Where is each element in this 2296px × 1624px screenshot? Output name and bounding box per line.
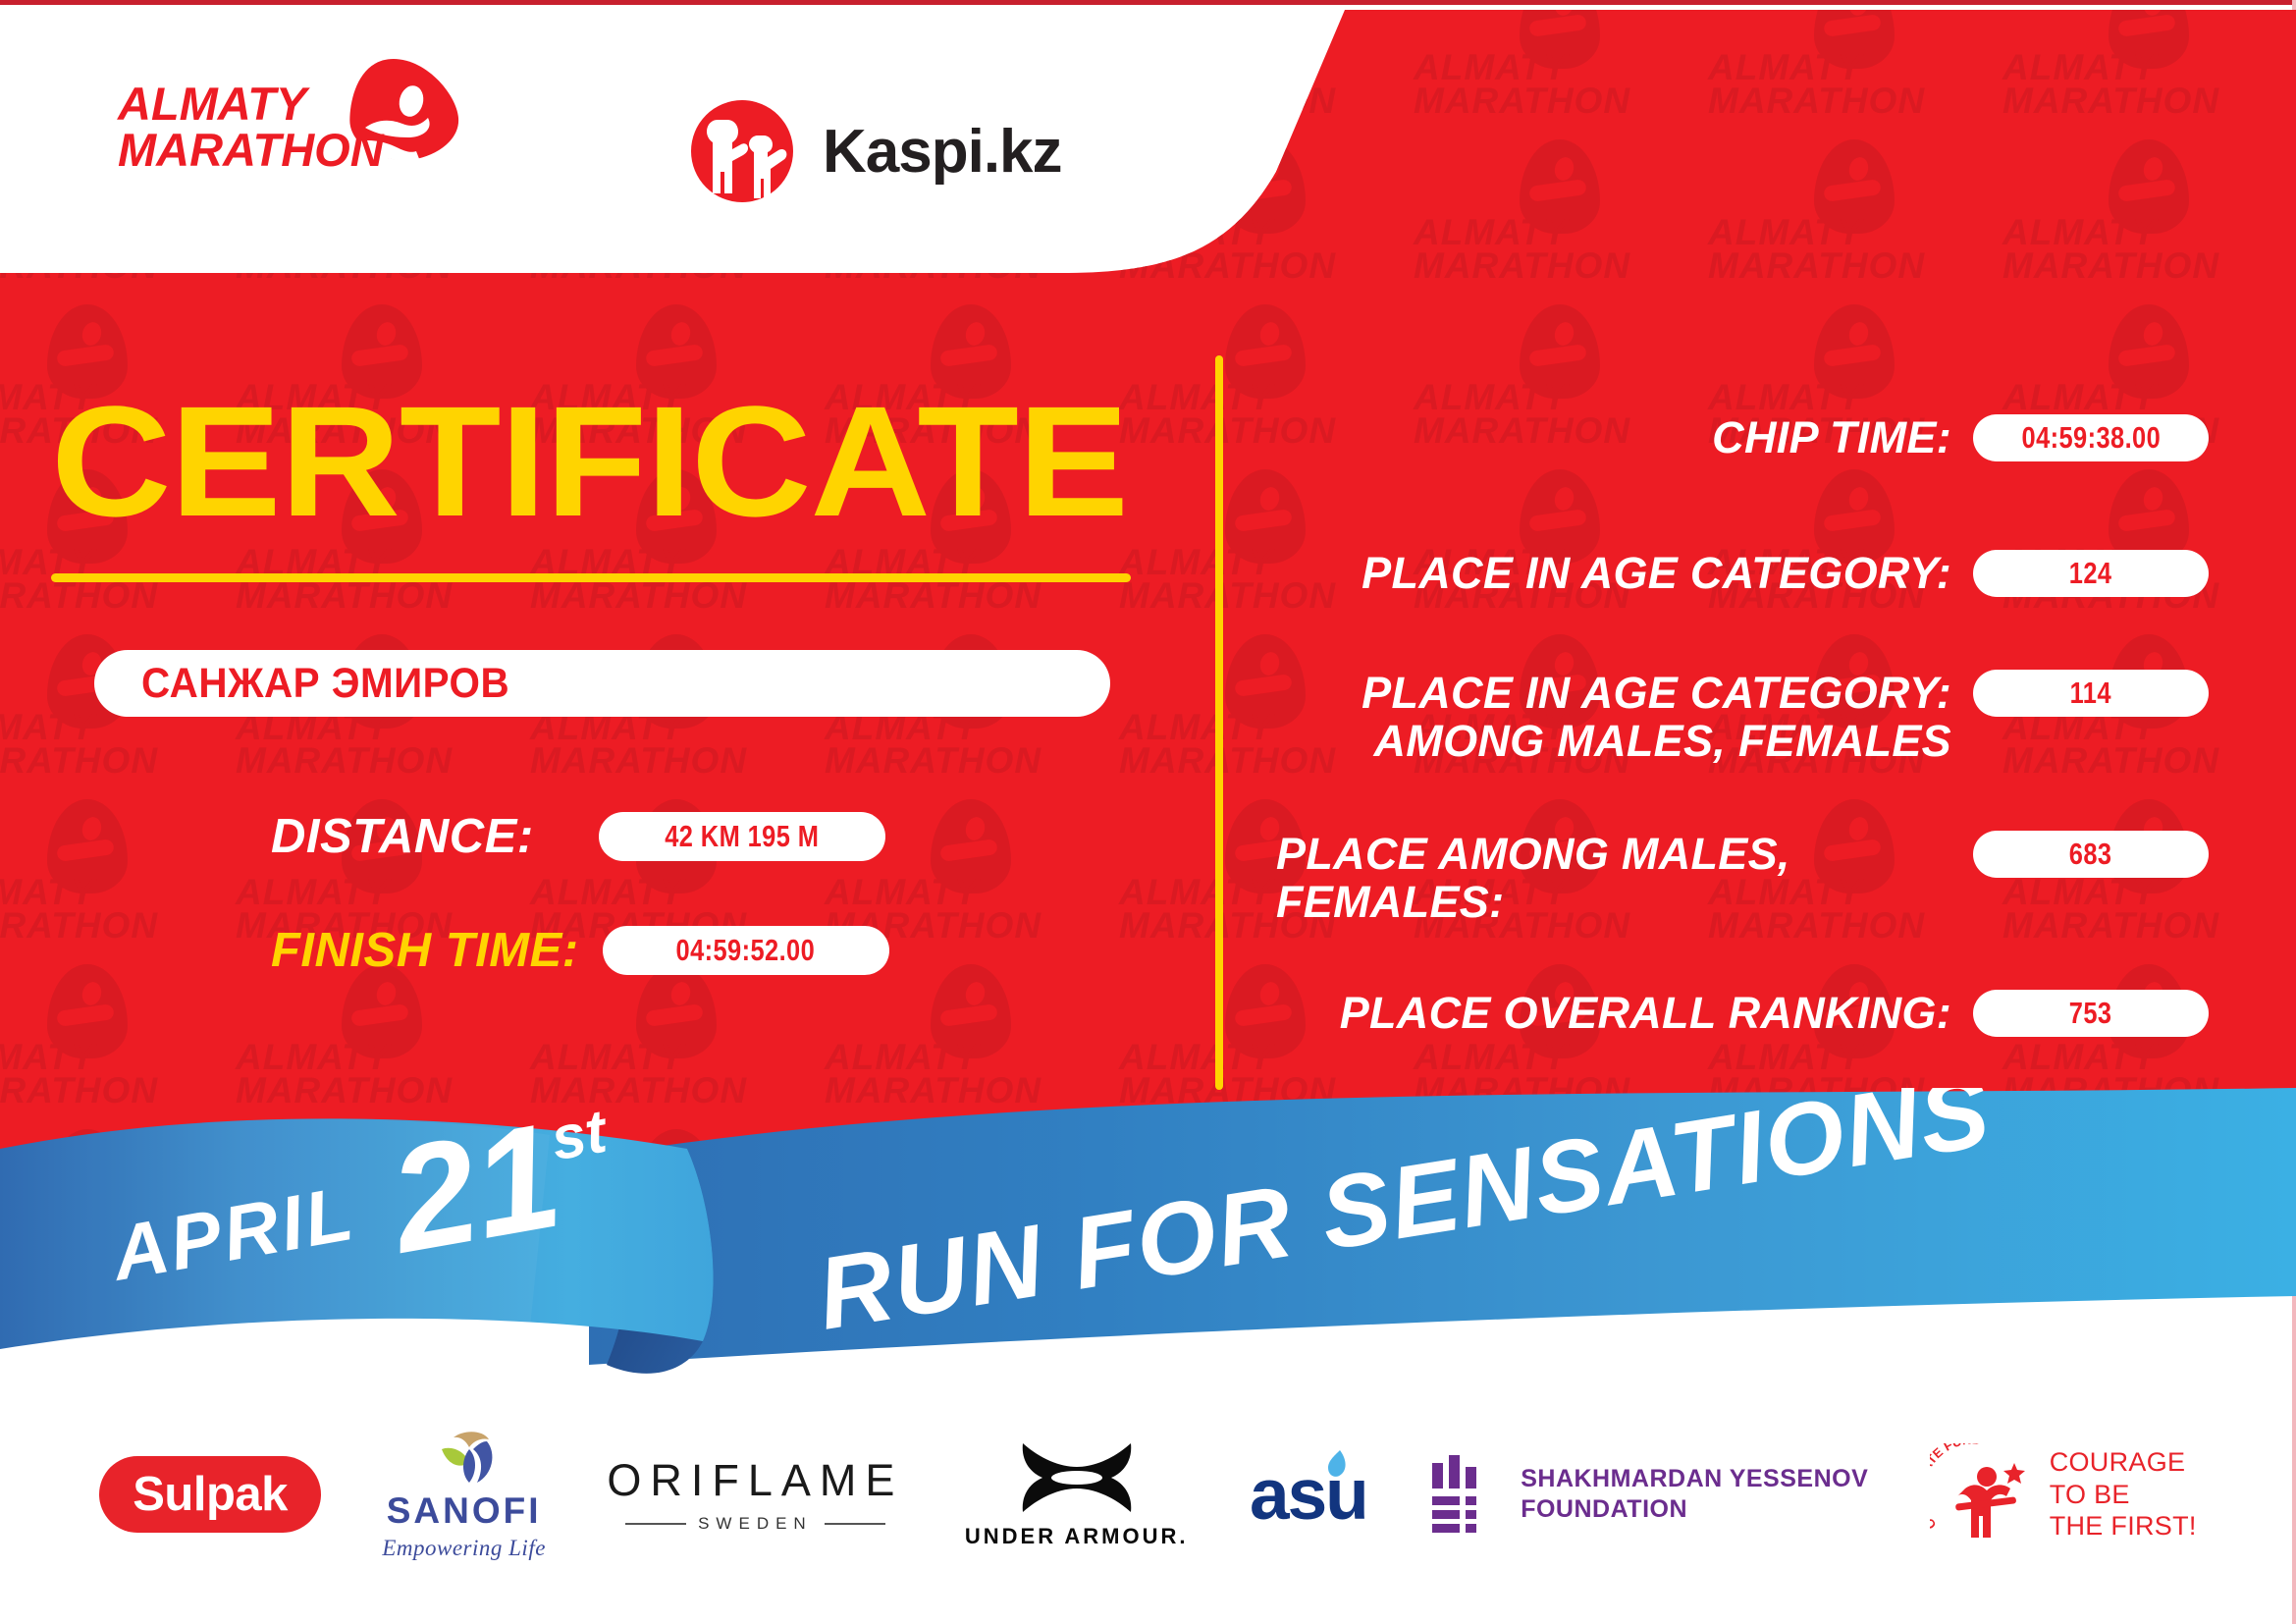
watermark-text: ALMATYMARATHON: [236, 1206, 453, 1272]
watermark-text: ALMATYMARATHON: [2002, 1206, 2219, 1272]
chip-time-value: 04:59:38.00: [2021, 420, 2161, 456]
place-among-gender-value: 683: [2069, 837, 2112, 872]
watermark-text: ALMATYMARATHON: [1414, 1206, 1630, 1272]
vertical-divider: [1215, 355, 1223, 1090]
watermark-text: ALMATYMARATHON: [236, 216, 453, 283]
place-age-category-value-pill: 124: [1973, 550, 2209, 597]
sponsor-oriflame: ORIFLAME SWEDEN: [607, 1455, 903, 1534]
distance-row: DISTANCE: 42 KM 195 M: [271, 809, 885, 864]
place-age-category-label: PLACE IN AGE CATEGORY:: [1276, 550, 1951, 598]
sponsor-courage-fund: CORPORATE FUND COURAGE TO BE THE FIRST!: [1930, 1443, 2197, 1545]
watermark-tile: ALMATYMARATHON: [1119, 1135, 1414, 1300]
place-age-category-gender-value-pill: 114: [1973, 670, 2209, 717]
sponsor-yessenov-foundation: SHAKHMARDAN YESSENOV FOUNDATION: [1428, 1453, 1868, 1536]
result-row: CHIP TIME: 04:59:38.00: [1276, 414, 2209, 462]
oriflame-sweden-row: SWEDEN: [625, 1514, 885, 1534]
almaty-marathon-wordmark: ALMATY MARATHON: [118, 81, 384, 173]
asu-logo: asu: [1250, 1454, 1367, 1536]
kaspi-figures-icon: [687, 96, 797, 206]
result-row: PLACE OVERALL RANKING: 753: [1276, 990, 2209, 1038]
watermark-text: ALMATYMARATHON: [530, 1206, 747, 1272]
sponsor-sulpak: Sulpak: [99, 1456, 321, 1533]
watermark-text: ALMATYMARATHON: [825, 1206, 1041, 1272]
distance-label: DISTANCE:: [271, 809, 534, 864]
watermark-tile: ALMATYMARATHON: [1414, 1135, 1708, 1300]
sponsor-strip: Sulpak SANOFI Empowering Life ORIFLAME S…: [0, 1386, 2296, 1602]
top-border-line: [0, 0, 2296, 5]
courage-line1: COURAGE: [2050, 1446, 2197, 1479]
watermark-text: ALMATYMARATHON: [1119, 1206, 1336, 1272]
oriflame-rule-left: [625, 1523, 686, 1525]
under-armour-logo-icon: [1017, 1439, 1137, 1516]
kaspi-logo: Kaspi.kz: [687, 96, 1062, 206]
sanofi-tagline: Empowering Life: [382, 1536, 546, 1561]
finish-time-label: FINISH TIME:: [271, 923, 579, 978]
place-age-category-gender-label: PLACE IN AGE CATEGORY: AMONG MALES, FEMA…: [1276, 670, 1951, 765]
sponsor-sanofi: SANOFI Empowering Life: [382, 1428, 546, 1561]
under-armour-wordmark: UNDER ARMOUR.: [965, 1524, 1189, 1549]
result-row: PLACE IN AGE CATEGORY: 124: [1276, 550, 2209, 598]
athlete-name-value: САНЖАР ЭМИРОВ: [141, 660, 509, 708]
watermark-tile: ALMATYMARATHON: [530, 1135, 825, 1300]
watermark-drop-icon: [636, 0, 717, 69]
courage-line2: TO BE: [2050, 1479, 2197, 1511]
place-among-gender-label: PLACE AMONG MALES, FEMALES:: [1276, 831, 1951, 926]
watermark-tile: ALMATYMARATHON: [236, 1135, 530, 1300]
courage-line3: THE FIRST!: [2050, 1510, 2197, 1543]
watermark-tile: ALMATYMARATHON: [2002, 1135, 2296, 1300]
sanofi-wordmark: SANOFI: [387, 1490, 542, 1532]
page-title: CERTIFICATE: [51, 383, 1128, 540]
sponsor-asu: asu: [1250, 1454, 1367, 1536]
place-among-gender-value-pill: 683: [1973, 831, 2209, 878]
watermark-text: ALMATYMARATHON: [0, 1206, 158, 1272]
distance-value: 42 KM 195 M: [665, 819, 819, 854]
watermark-drop-icon: [47, 0, 128, 69]
kaspi-wordmark: Kaspi.kz: [823, 117, 1062, 187]
place-overall-label: PLACE OVERALL RANKING:: [1276, 990, 1951, 1038]
almaty-marathon-logo: ALMATY MARATHON: [118, 59, 530, 182]
courage-fund-icon: CORPORATE FUND: [1930, 1443, 2036, 1545]
ribbon-month: APRIL: [104, 1169, 361, 1297]
watermark-tile: ALMATYMARATHON: [0, 1135, 236, 1300]
oriflame-tagline: SWEDEN: [698, 1514, 813, 1534]
yessenov-bars-icon: [1428, 1453, 1499, 1536]
finish-time-value: 04:59:52.00: [676, 933, 816, 968]
watermark-text: ALMATYMARATHON: [1708, 1206, 1925, 1272]
result-row: PLACE IN AGE CATEGORY: AMONG MALES, FEMA…: [1276, 670, 2209, 765]
finish-time-row: FINISH TIME: 04:59:52.00: [271, 923, 889, 978]
watermark-drop-icon: [931, 0, 1011, 69]
watermark-tile: ALMATYMARATHON: [825, 1135, 1119, 1300]
place-age-category-gender-value: 114: [2070, 676, 2111, 711]
watermark-text: ALMATYMARATHON: [825, 216, 1041, 283]
finish-time-value-pill: 04:59:52.00: [603, 926, 889, 975]
sulpak-logo: Sulpak: [99, 1456, 321, 1533]
courage-wordmark: COURAGE TO BE THE FIRST!: [2050, 1446, 2197, 1543]
sponsor-under-armour: UNDER ARMOUR.: [965, 1439, 1189, 1549]
asu-droplet-icon: [1324, 1448, 1350, 1482]
title-underline: [51, 573, 1131, 582]
place-overall-value: 753: [2069, 996, 2112, 1031]
watermark-drop-icon: [47, 139, 128, 234]
chip-time-value-pill: 04:59:38.00: [1973, 414, 2209, 461]
oriflame-wordmark: ORIFLAME: [607, 1455, 903, 1506]
watermark-text: ALMATYMARATHON: [530, 216, 747, 283]
place-overall-value-pill: 753: [1973, 990, 2209, 1037]
yessenov-line1: SHAKHMARDAN YESSENOV: [1521, 1464, 1868, 1494]
certificate-page: ALMATYMARATHONALMATYMARATHONALMATYMARATH…: [0, 0, 2296, 1624]
yessenov-wordmark: SHAKHMARDAN YESSENOV FOUNDATION: [1521, 1464, 1868, 1525]
sanofi-mark-icon: [426, 1428, 503, 1489]
athlete-name-field: САНЖАР ЭМИРОВ: [94, 650, 1110, 717]
watermark-text: ALMATYMARATHON: [0, 216, 158, 283]
marathon-line: MARATHON: [118, 127, 384, 173]
oriflame-rule-right: [825, 1523, 885, 1525]
result-row: PLACE AMONG MALES, FEMALES: 683: [1276, 831, 2209, 926]
almaty-line: ALMATY: [118, 81, 384, 127]
yessenov-line2: FOUNDATION: [1521, 1494, 1868, 1525]
watermark-drop-icon: [1225, 0, 1306, 69]
chip-time-label: CHIP TIME:: [1276, 414, 1951, 462]
place-age-category-value: 124: [2069, 556, 2112, 591]
distance-value-pill: 42 KM 195 M: [599, 812, 885, 861]
watermark-tile: ALMATYMARATHON: [1708, 1135, 2002, 1300]
